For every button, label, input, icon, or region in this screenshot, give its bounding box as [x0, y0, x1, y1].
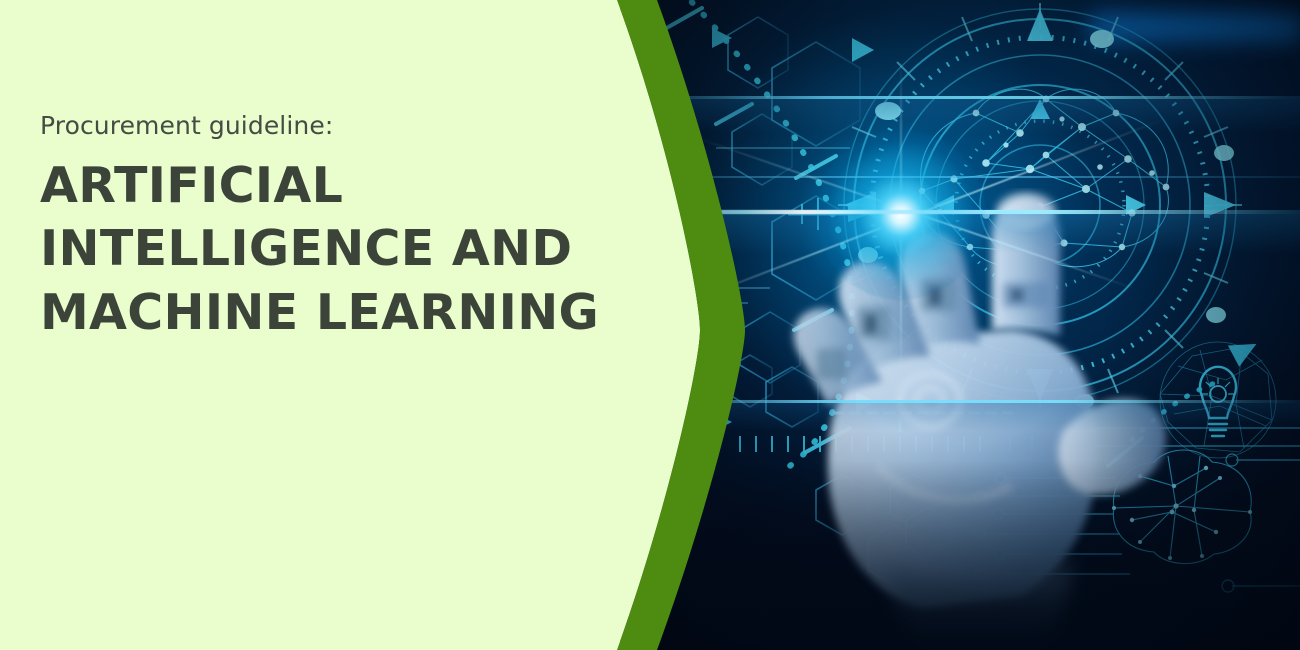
cover-slide: Procurement guideline: ARTIFICIAL INTELL… — [0, 0, 1300, 650]
headline-line-2: INTELLIGENCE AND — [40, 217, 580, 281]
page-title: ARTIFICIAL INTELLIGENCE AND MACHINE LEAR… — [40, 154, 580, 345]
title-block: Procurement guideline: ARTIFICIAL INTELL… — [40, 112, 580, 345]
headline-line-1: ARTIFICIAL — [40, 154, 580, 218]
kicker-text: Procurement guideline: — [40, 112, 580, 140]
headline-line-3: MACHINE LEARNING — [40, 281, 580, 345]
